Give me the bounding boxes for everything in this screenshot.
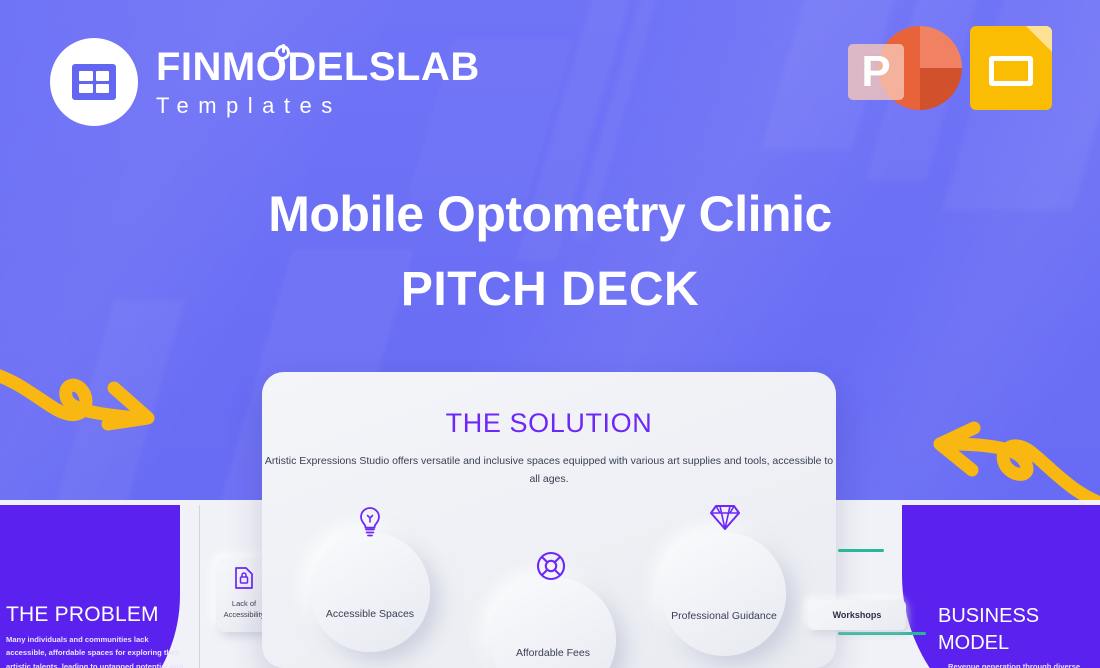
business-accent-line <box>838 549 884 552</box>
lifebuoy-icon <box>535 550 567 582</box>
slide-card-solution[interactable]: THE SOLUTION Artistic Expressions Studio… <box>262 372 836 668</box>
solution-feature-bubble[interactable]: Affordable Fees <box>490 577 616 668</box>
business-body: Revenue generation through diverse strea… <box>948 660 1098 668</box>
solution-feature-bubble[interactable]: Professional Guidance <box>662 532 786 656</box>
solution-description: Artistic Expressions Studio offers versa… <box>262 453 836 489</box>
arrow-left-icon <box>0 352 186 452</box>
grid-window-icon <box>72 64 116 100</box>
logo-mark <box>50 38 138 126</box>
hero-title-block: Mobile Optometry Clinic PITCH DECK <box>0 188 1100 317</box>
logo-accent-dot <box>275 45 290 60</box>
business-title: BUSINESS MODEL <box>938 603 1088 657</box>
business-accent-line <box>838 632 926 635</box>
slide-card-business[interactable]: BUSINESS MODEL Revenue generation throug… <box>900 505 1100 668</box>
powerpoint-letter: P <box>848 44 904 100</box>
business-chip-label: Workshops <box>833 610 882 620</box>
brand-tagline: Templates <box>156 95 480 117</box>
solution-feature-bubble[interactable]: Accessible Spaces <box>310 532 430 652</box>
feature-label: Professional Guidance <box>671 609 777 624</box>
google-slides-icon[interactable] <box>970 22 1052 114</box>
problem-title: THE PROBLEM <box>6 603 159 627</box>
diamond-icon <box>709 504 741 532</box>
format-badges: P <box>848 22 1052 114</box>
brand-name: FINMODELSLAB <box>156 47 480 87</box>
brand-logo[interactable]: FINMODELSLAB Templates <box>50 38 480 126</box>
powerpoint-icon[interactable]: P <box>848 22 948 114</box>
hero-title: Mobile Optometry Clinic <box>0 188 1100 241</box>
brand-text: FINMODELSLAB Templates <box>156 47 480 117</box>
document-lock-icon <box>234 566 254 590</box>
brand-name-label: FINMODELSLAB <box>156 45 480 89</box>
slide-preview-canvas: FINMODELSLAB Templates P Mobile Optometr… <box>0 0 1100 668</box>
slides-screen-glyph <box>989 56 1033 86</box>
lightbulb-icon <box>357 506 383 538</box>
feature-label: Affordable Fees <box>516 646 590 661</box>
problem-body: Many individuals and communities lack ac… <box>6 633 186 668</box>
business-chip[interactable]: Workshops <box>808 600 906 630</box>
solution-title: THE SOLUTION <box>262 408 836 439</box>
feature-label: Accessible Spaces <box>326 607 414 622</box>
slide-card-problem[interactable]: THE PROBLEM Many individuals and communi… <box>0 505 200 668</box>
slide-divider <box>199 505 200 668</box>
hero-subtitle: PITCH DECK <box>0 262 1100 317</box>
